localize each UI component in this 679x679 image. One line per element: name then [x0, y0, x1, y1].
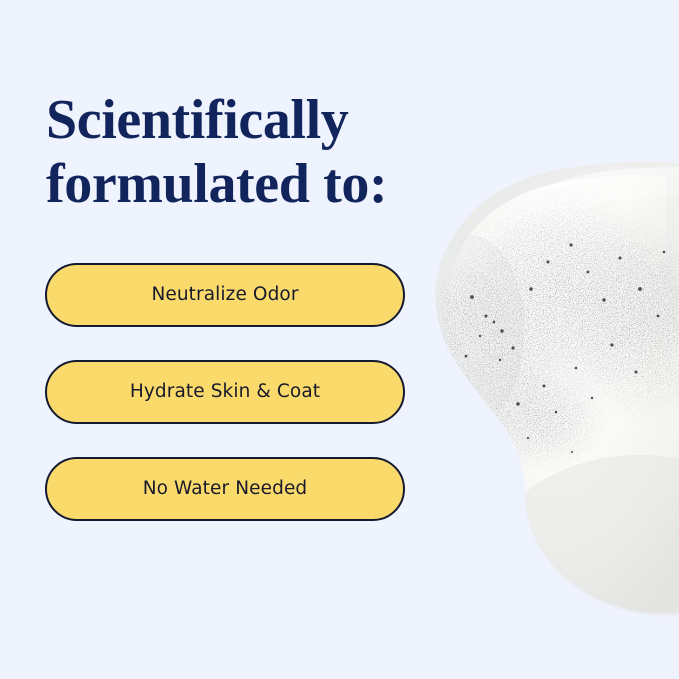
benefit-pill-hydrate-skin-and-coat[interactable]: Hydrate Skin & Coat — [45, 360, 405, 424]
benefit-pill-neutralize-odor[interactable]: Neutralize Odor — [45, 263, 405, 327]
benefit-pill-no-water-needed[interactable]: No Water Needed — [45, 457, 405, 521]
page-title: Scientifically formulated to: — [46, 88, 476, 218]
promo-graphic: Scientifically formulated to: Neutralize… — [0, 0, 679, 679]
benefit-pill-label: Hydrate Skin & Coat — [130, 383, 320, 402]
benefit-pill-label: No Water Needed — [143, 480, 308, 499]
benefit-list: Neutralize Odor Hydrate Skin & Coat No W… — [45, 263, 405, 521]
benefit-pill-label: Neutralize Odor — [151, 286, 298, 305]
